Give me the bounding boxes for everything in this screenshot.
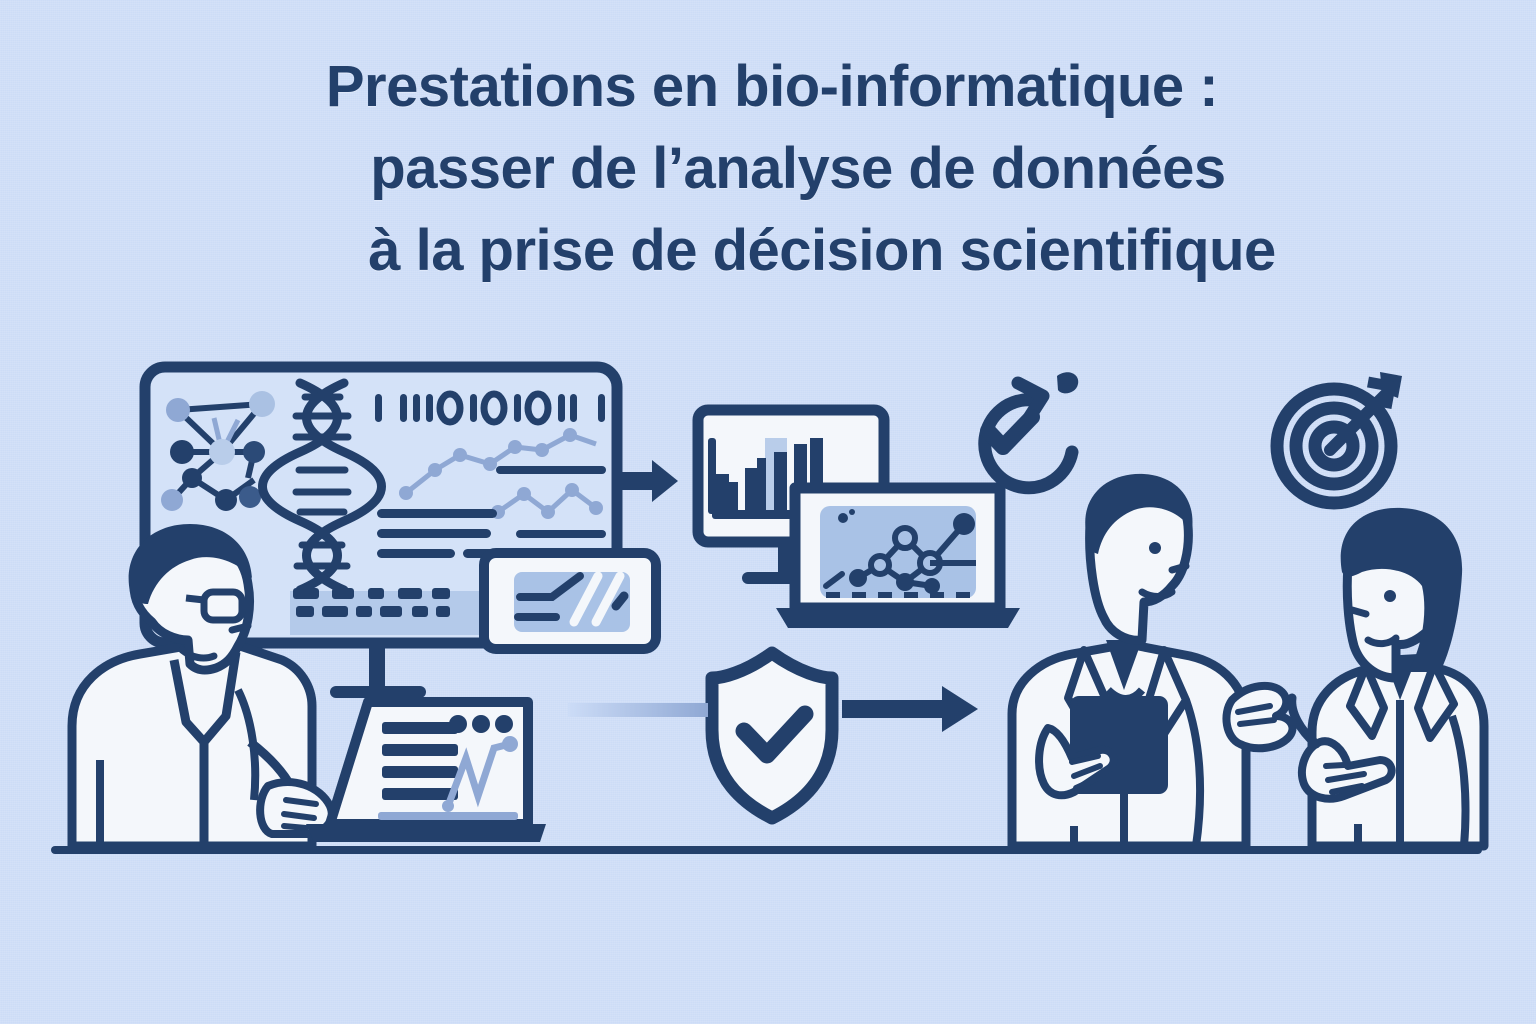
- page-title: Prestations en bio-informatique : passer…: [0, 46, 1536, 292]
- flow-arrow-right-2: [842, 686, 978, 732]
- title-line-2: passer de l’analyse de données: [0, 128, 1536, 210]
- scientist-with-clipboard: [1012, 474, 1292, 846]
- scientist-gesturing: [1292, 508, 1484, 846]
- decision-scientists: [1012, 474, 1484, 846]
- report-text-lines: [377, 509, 501, 558]
- eye: [1149, 542, 1161, 554]
- inset-chart-panel: [484, 553, 656, 649]
- title-line-3: à la prise de décision scientifique: [0, 210, 1536, 292]
- validation-badge: [985, 372, 1078, 488]
- target-arrow-icon: [1277, 372, 1402, 503]
- poster-canvas: Prestations en bio-informatique : passer…: [0, 0, 1536, 1024]
- desk-laptop: [306, 702, 546, 842]
- flow-arrow-right-1: [618, 460, 678, 502]
- network-graph-panel: [161, 391, 275, 511]
- eye: [1384, 590, 1396, 602]
- data-monitor-base: [330, 686, 426, 698]
- shield-check-icon: [712, 653, 832, 818]
- data-monitor-neck: [369, 643, 385, 689]
- results-laptop: [776, 488, 1020, 628]
- flow-trail-left: [568, 703, 708, 717]
- title-line-1: Prestations en bio-informatique :: [0, 46, 1536, 128]
- gesturing-hand-left-person: [1226, 686, 1292, 748]
